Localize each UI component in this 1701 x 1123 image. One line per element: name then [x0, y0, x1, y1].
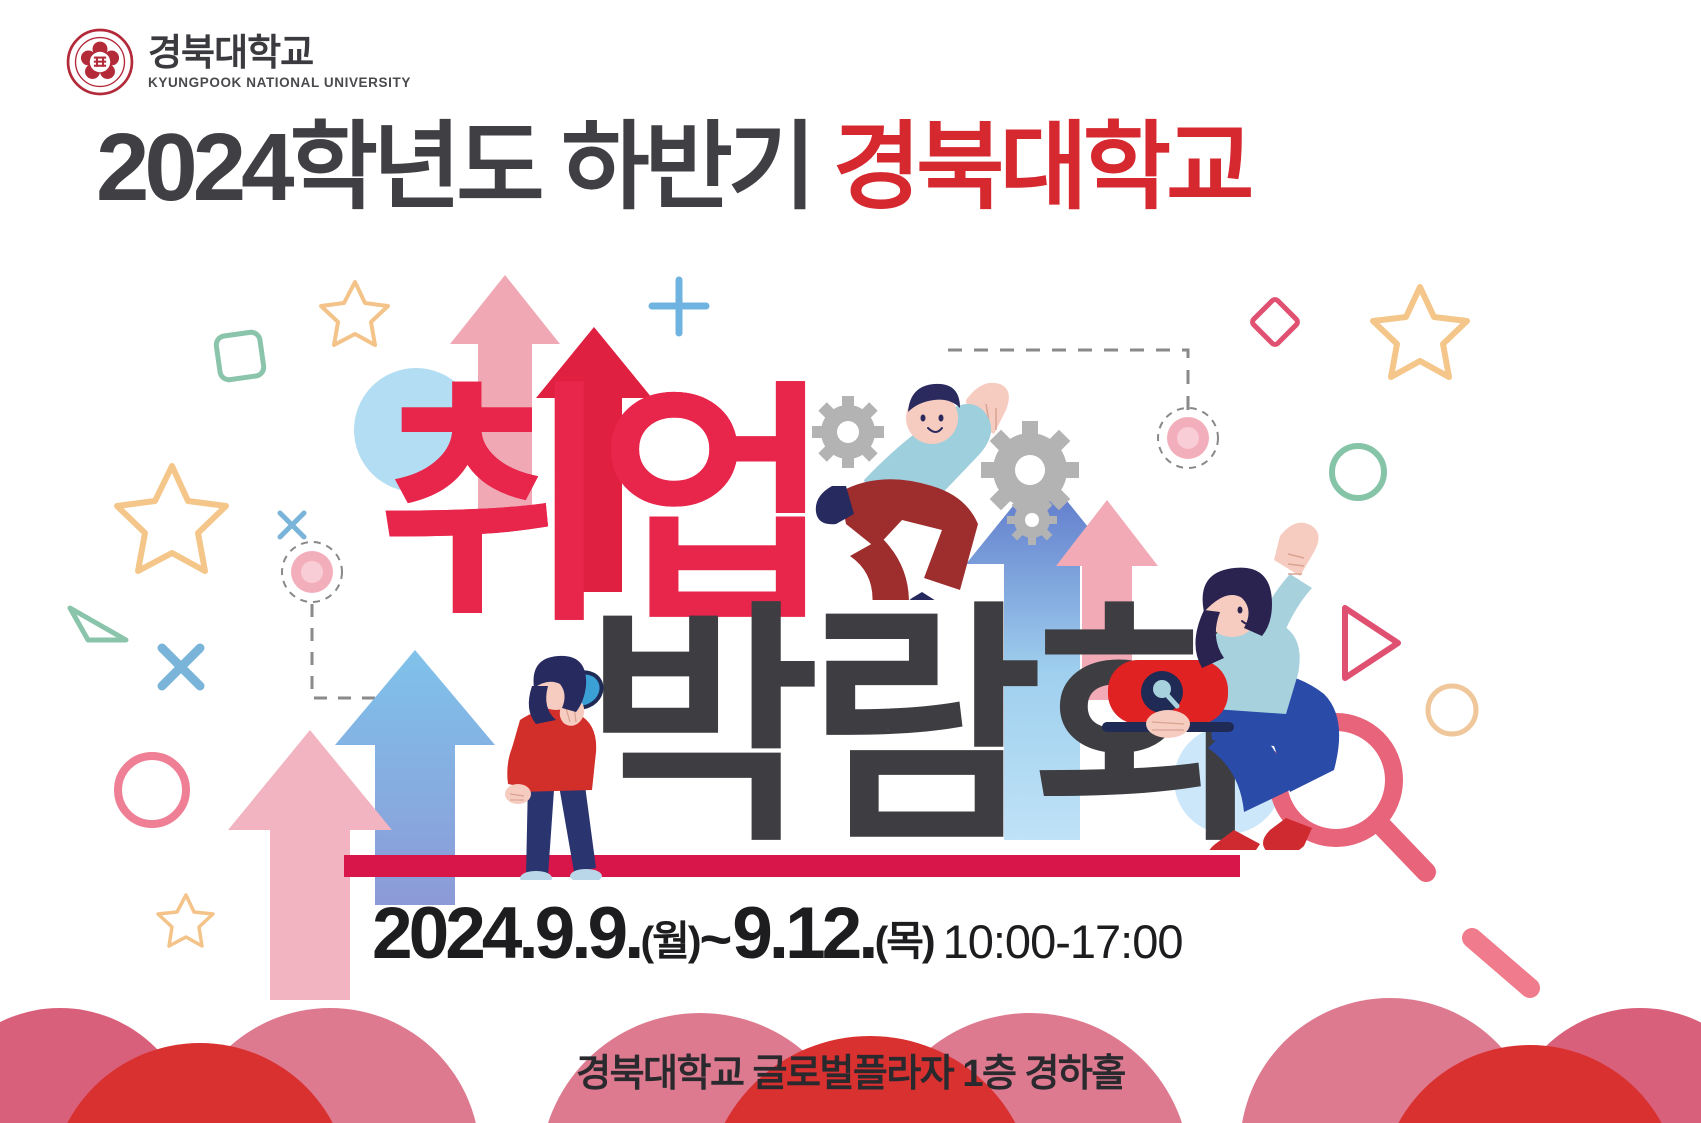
magnifying-glass-large-icon	[1250, 700, 1450, 900]
circle-orange-outline-icon	[1428, 686, 1476, 734]
knu-seal-icon	[66, 28, 134, 96]
star-orange-large-icon	[117, 466, 226, 571]
dotted-circle-pink-left-icon	[282, 542, 342, 602]
poster-canvas: 경북대학교 KYUNGPOOK NATIONAL UNIVERSITY 2024…	[0, 0, 1701, 1123]
star-orange-right-icon	[1373, 287, 1467, 377]
schedule-line: 2024.9.9. (월) ~ 9.12. (목) 10:00-17:00	[372, 892, 1332, 975]
triangle-pink-play-icon	[1345, 608, 1398, 678]
brand-name-en: KYUNGPOOK NATIONAL UNIVERSITY	[148, 75, 411, 90]
diamond-pink-icon	[1251, 298, 1299, 346]
dotted-circle-pink-right-icon	[1158, 408, 1218, 468]
day-start: (월)	[640, 907, 699, 967]
star-orange-small-bottom-icon	[158, 895, 213, 946]
day-end: (목)	[875, 907, 934, 967]
dashed-bracket-right	[948, 350, 1188, 420]
headline-dark: 2024학년도 하반기	[96, 114, 811, 221]
circle-green-outline-icon	[1332, 446, 1384, 498]
headline-red: 경북대학교	[833, 114, 1250, 221]
brand-logo: 경북대학교 KYUNGPOOK NATIONAL UNIVERSITY	[66, 28, 411, 96]
date-start: 2024.9.9.	[372, 892, 640, 975]
brand-name-ko: 경북대학교	[148, 34, 411, 72]
date-end: 9.12.	[732, 892, 874, 975]
headline: 2024학년도 하반기 경북대학교	[96, 120, 1249, 216]
gear-cluster-icon	[812, 396, 1079, 545]
triangle-green-icon	[70, 608, 126, 640]
cross-blue-big-icon	[162, 648, 200, 686]
event-time: 10:00-17:00	[943, 914, 1183, 969]
circle-pink-outline-icon	[118, 756, 186, 824]
star-orange-icon	[321, 282, 388, 345]
title-line-2: 박람회	[585, 612, 1253, 847]
cross-blue-small-icon	[280, 513, 304, 537]
date-separator: ~	[699, 906, 732, 971]
red-divider-bar	[344, 855, 1240, 877]
venue-text: 경북대학교 글로벌플라자 1층 경하홀	[0, 1042, 1701, 1097]
cross-blue-icon	[652, 280, 706, 333]
square-green-icon	[215, 331, 265, 381]
